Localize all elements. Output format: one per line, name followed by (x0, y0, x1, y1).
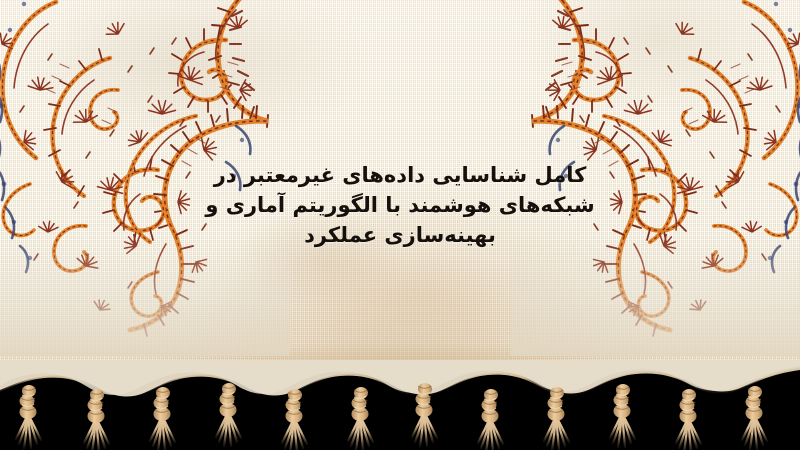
paisley-ornament-right (510, 0, 800, 356)
slide-canvas: کامل شناسایی داده‌های غیرمعتبر در شبکه‌ه… (0, 0, 800, 450)
paisley-ornament-left (0, 0, 290, 356)
tassel-fringe (0, 360, 800, 450)
